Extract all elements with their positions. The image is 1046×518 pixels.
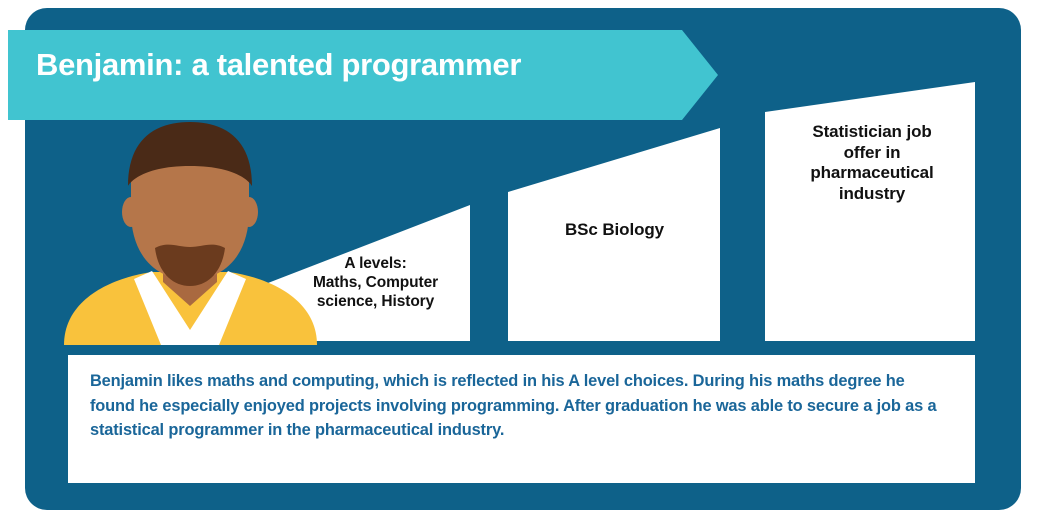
step-label-a-levels-line1: A levels:	[344, 255, 406, 272]
title-banner: Benjamin: a talented programmer	[0, 0, 760, 150]
step-label-bsc-biology-line1: BSc Biology	[565, 220, 664, 239]
step-label-statistician-job-line1: Statistician job	[812, 122, 931, 141]
caption-text: Benjamin likes maths and computing, whic…	[90, 369, 953, 443]
step-label-a-levels: A levels: Maths, Computer science, Histo…	[288, 255, 463, 312]
infographic-card: A levels: Maths, Computer science, Histo…	[0, 0, 1046, 518]
step-label-statistician-job-line2: offer in	[844, 143, 901, 162]
benjamin-avatar	[64, 122, 317, 345]
step-label-a-levels-line2: Maths, Computer	[313, 274, 438, 291]
step-label-statistician-job: Statistician job offer in pharmaceutical…	[772, 122, 972, 205]
page-title: Benjamin: a talented programmer	[36, 47, 686, 83]
caption-box: Benjamin likes maths and computing, whic…	[68, 355, 975, 483]
step-label-statistician-job-line3: pharmaceutical	[810, 163, 933, 182]
step-label-a-levels-line3: science, History	[317, 293, 434, 310]
step-shape-statistician-job	[765, 82, 975, 341]
step-label-bsc-biology: BSc Biology	[512, 220, 717, 241]
step-label-statistician-job-line4: industry	[839, 184, 905, 203]
